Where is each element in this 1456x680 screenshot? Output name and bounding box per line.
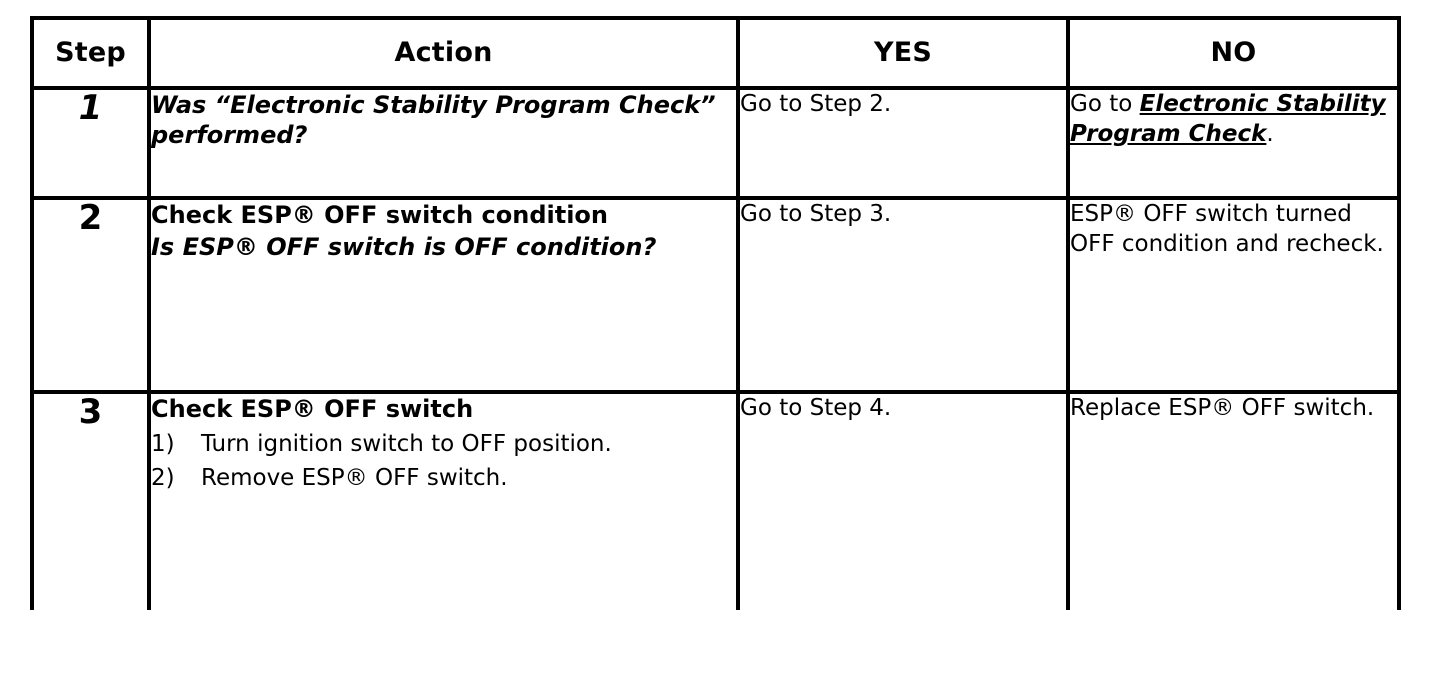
action-heading: Check ESP® OFF switch: [151, 394, 736, 424]
no-result-prefix: Go to: [1070, 91, 1140, 117]
action-heading: Check ESP® OFF switch condition: [151, 200, 736, 230]
action-cell-step-3: Check ESP® OFF switch 1) Turn ignition s…: [149, 392, 738, 610]
step-number: 2: [32, 198, 149, 392]
table-row: 2 Check ESP® OFF switch condition Is ESP…: [32, 198, 1399, 392]
yes-result-text: Go to Step 2.: [740, 91, 891, 117]
yes-result-text: Go to Step 3.: [740, 201, 891, 227]
yes-result-step-3: Go to Step 4.: [738, 392, 1068, 610]
list-item-text: Turn ignition switch to OFF position.: [201, 430, 736, 460]
action-cell-step-1: Was “Electronic Stability Program Check”…: [149, 88, 738, 198]
list-item: 1) Turn ignition switch to OFF position.: [151, 430, 736, 460]
no-result-text: Replace ESP® OFF switch.: [1070, 395, 1374, 421]
column-header-yes: YES: [738, 18, 1068, 88]
table-row: 3 Check ESP® OFF switch 1) Turn ignition…: [32, 392, 1399, 610]
list-item-marker: 2): [151, 464, 201, 494]
step-number: 3: [32, 392, 149, 610]
yes-result-step-2: Go to Step 3.: [738, 198, 1068, 392]
diagnostic-step-table: Step Action YES NO 1 Was “Electronic Sta…: [30, 16, 1401, 610]
step-number: 1: [32, 88, 149, 198]
column-header-step: Step: [32, 18, 149, 88]
column-header-no: NO: [1068, 18, 1399, 88]
column-header-action: Action: [149, 18, 738, 88]
list-item: 2) Remove ESP® OFF switch.: [151, 464, 736, 494]
procedure-list: 1) Turn ignition switch to OFF position.…: [151, 430, 736, 494]
action-question: Is ESP® OFF switch is OFF condition?: [151, 232, 736, 262]
yes-result-step-1: Go to Step 2.: [738, 88, 1068, 198]
yes-result-text: Go to Step 4.: [740, 395, 891, 421]
no-result-suffix: .: [1266, 121, 1273, 147]
list-item-text: Remove ESP® OFF switch.: [201, 464, 736, 494]
no-result-step-3: Replace ESP® OFF switch.: [1068, 392, 1399, 610]
action-question: Was “Electronic Stability Program Check”…: [151, 90, 736, 150]
table-row: 1 Was “Electronic Stability Program Chec…: [32, 88, 1399, 198]
table-header-row: Step Action YES NO: [32, 18, 1399, 88]
diagnostic-table-page: Step Action YES NO 1 Was “Electronic Sta…: [0, 0, 1456, 680]
no-result-text: ESP® OFF switch turned OFF condition and…: [1070, 201, 1384, 257]
action-cell-step-2: Check ESP® OFF switch condition Is ESP® …: [149, 198, 738, 392]
no-result-step-1: Go to Electronic Stability Program Check…: [1068, 88, 1399, 198]
list-item-marker: 1): [151, 430, 201, 460]
no-result-step-2: ESP® OFF switch turned OFF condition and…: [1068, 198, 1399, 392]
